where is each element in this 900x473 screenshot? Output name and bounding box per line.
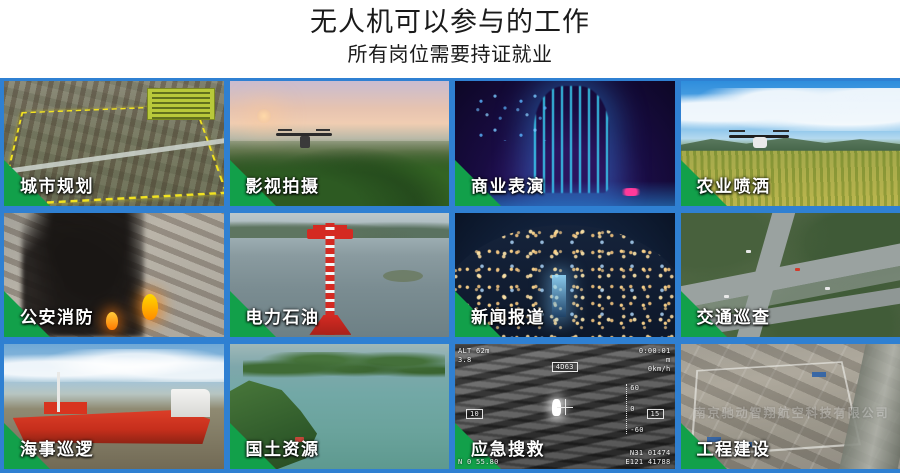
grid-cell-urban-planning[interactable]: 城市规划 xyxy=(4,81,224,206)
hud-speed: 0km/h xyxy=(639,365,671,374)
cell-label: 交通巡查 xyxy=(697,303,771,328)
grid-cell-power-petroleum[interactable]: 电力石油 xyxy=(230,213,450,338)
hud-crosshair-icon xyxy=(557,399,573,415)
hud-scale-ticks: 60 0 -60 xyxy=(626,384,644,434)
grid-cell-commercial-show[interactable]: 商业表演 xyxy=(455,81,675,206)
hud-bottom-right: N31 01474 E121 41788 xyxy=(625,449,670,467)
ship-bridge xyxy=(171,389,211,416)
cell-label: 城市规划 xyxy=(20,172,94,197)
grid-cell-fire-security[interactable]: 公安消防 xyxy=(4,213,224,338)
grid-cell-engineering-construction[interactable]: 南京驰动智翔航空科技有限公司 工程建设 xyxy=(681,344,900,469)
cell-label: 商业表演 xyxy=(471,172,545,197)
hud-tick-high: 60 xyxy=(630,384,644,392)
hud-altitude: ALT 62m xyxy=(458,347,490,356)
grid-cell-maritime-patrol[interactable]: 海事巡逻 xyxy=(4,344,224,469)
stage-flare xyxy=(618,188,644,196)
image-watermark: 南京驰动智翔航空科技有限公司 xyxy=(694,404,892,421)
grid-cell-emergency-rescue[interactable]: ALT 62m 3.8 4D63 0:00:01 m 0km/h 10 15 6… xyxy=(455,344,675,469)
cell-label: 新闻报道 xyxy=(471,303,545,328)
flame-icon xyxy=(142,294,158,320)
hill-range xyxy=(681,136,900,151)
hud-tick-low: -60 xyxy=(630,426,644,434)
drone-icon xyxy=(276,125,332,149)
hud-right-box: 15 xyxy=(647,409,664,419)
map-legend-box xyxy=(147,88,215,120)
page-header: 无人机可以参与的工作 所有岗位需要持证就业 xyxy=(0,0,900,78)
cell-label: 工程建设 xyxy=(697,435,771,460)
grid-cell-agriculture-spraying[interactable]: 农业喷洒 xyxy=(681,81,900,206)
hud-left-box: 10 xyxy=(466,409,483,419)
ship-deckhouse xyxy=(44,402,88,414)
drone-icon xyxy=(729,128,789,150)
hud-altitude-sub: 3.8 xyxy=(458,356,490,365)
application-grid: 城市规划 影视拍摄 商业表演 农业喷洒 xyxy=(0,78,900,473)
hud-coord-lat: N31 01474 xyxy=(625,449,670,458)
hud-coord-lon: E121 41788 xyxy=(625,458,670,467)
cell-label: 农业喷洒 xyxy=(697,172,771,197)
grid-cell-traffic-patrol[interactable]: 交通巡查 xyxy=(681,213,900,338)
grid-cell-land-resources[interactable]: 国土资源 xyxy=(230,344,450,469)
grid-cell-film-shooting[interactable]: 影视拍摄 xyxy=(230,81,450,206)
grid-cell-news-report[interactable]: 新闻报道 xyxy=(455,213,675,338)
cell-label: 国土资源 xyxy=(246,435,320,460)
hud-tick-mid: 0 xyxy=(630,405,644,413)
cell-label: 应急搜救 xyxy=(471,435,545,460)
cell-label: 影视拍摄 xyxy=(246,172,320,197)
flame-icon xyxy=(106,312,118,330)
page-subtitle: 所有岗位需要持证就业 xyxy=(0,40,900,70)
hud-center-tag: 4D63 xyxy=(552,362,578,372)
hud-unit: m xyxy=(639,356,671,365)
cell-label: 海事巡逻 xyxy=(20,435,94,460)
ship-mast xyxy=(57,372,60,412)
cell-label: 公安消防 xyxy=(20,303,94,328)
cell-label: 电力石油 xyxy=(246,303,320,328)
islet xyxy=(383,270,423,282)
hud-time: 0:00:01 xyxy=(639,347,671,356)
page-title: 无人机可以参与的工作 xyxy=(0,4,900,40)
